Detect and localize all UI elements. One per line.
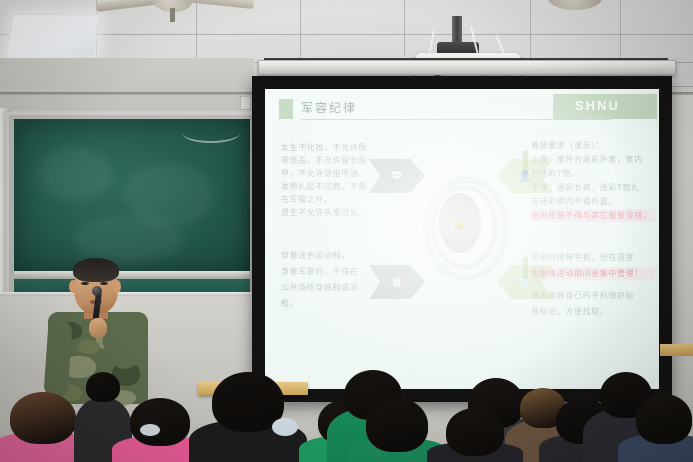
- slide-title-underline: [301, 119, 611, 120]
- wall-sensor: [240, 96, 251, 110]
- shirt-glyph: 👕: [518, 276, 532, 289]
- slide-brand-text: SHNU: [575, 98, 620, 113]
- slide-text-left2-2: 身着军装时，不得在: [281, 265, 377, 278]
- student-right-3-head: [446, 408, 504, 456]
- ceiling-tile-seam: [404, 0, 405, 56]
- ceiling-fan-rod: [170, 8, 175, 22]
- ceiling-tile-seam: [620, 0, 621, 66]
- slide-text-right-5: 在迷彩裤内不得外露。: [531, 195, 653, 208]
- student-far-right-2-head: [636, 394, 692, 444]
- ceiling-tile-seam: [300, 0, 301, 62]
- slide-text-left-5: 在军帽之外。: [281, 193, 377, 206]
- ceiling-tile-seam: [0, 34, 693, 35]
- student-ponytail-head: [130, 398, 190, 446]
- person-glyph: 👤: [518, 170, 532, 183]
- student-pink-shirt-head: [10, 392, 76, 444]
- classroom-photo: 军容纪律 SHNU 女生不化妆，不允许佩 带饰品，不允许留长指 甲，不允许涂指甲…: [0, 0, 693, 462]
- screen-roller-housing: [258, 60, 676, 75]
- slide-text-left2-1: 穿着浅色运动鞋。: [281, 249, 377, 262]
- chalk-tray: [14, 271, 250, 279]
- wall-above-chalkboard: [0, 58, 254, 110]
- slide-text-left-3: 甲，不允许涂指甲油。: [281, 167, 377, 180]
- slide-text-left-1: 女生不化妆，不允许佩: [281, 141, 377, 154]
- wooden-ledge-right: [660, 344, 693, 356]
- presenter-ear: [69, 280, 77, 293]
- hair-tie: [140, 424, 160, 436]
- projected-slide: 军容纪律 SHNU 女生不化妆，不允许佩 带饰品，不允许留长指 甲，不允许涂指甲…: [265, 89, 659, 389]
- camo-patch: [78, 340, 100, 354]
- presenter-hand: [89, 318, 107, 338]
- microphone-head: [92, 286, 102, 296]
- presenter-ear: [113, 280, 121, 293]
- slide-title: 军容纪律: [301, 99, 357, 116]
- slide-text-right-3: 为迷彩T恤。: [531, 167, 653, 180]
- presenter-eye: [81, 282, 89, 285]
- projection-screen: 军容纪律 SHNU 女生不化妆，不允许佩 带饰品，不允许留长指 甲，不允许涂指甲…: [252, 76, 672, 402]
- chat-bubble-glyph: 💬: [390, 170, 404, 183]
- green-chalkboard: [6, 112, 260, 300]
- presenter-hair: [73, 258, 119, 282]
- slide-text-left-6: 男生不允许头发过长。: [281, 206, 377, 219]
- chalkboard-surface: [14, 119, 250, 271]
- slide-text-right2-1: 军训时须带手机，但在寝室: [531, 251, 653, 264]
- presenter-eye: [100, 282, 108, 285]
- student-back-row-1-head: [86, 372, 120, 402]
- chalk-string: [182, 123, 240, 143]
- lock-icon: 🔒: [439, 193, 481, 253]
- clipboard-icon: 📋: [369, 265, 425, 299]
- slide-text-left-4: 发辫扎起不过肩，不露: [281, 180, 377, 193]
- slide-text-right2-4: 目标记，方便找取。: [531, 305, 653, 318]
- chalk-smudge: [38, 147, 112, 201]
- student-right-2-head: [366, 398, 428, 452]
- slide-text-left2-4: 鞋。: [281, 297, 377, 310]
- hair-scrunchie: [272, 418, 298, 436]
- clipboard-glyph: 📋: [390, 276, 404, 289]
- slide-title-accent: [279, 99, 293, 119]
- slide-text-right-1: 着装要求（演示）：: [531, 139, 653, 152]
- shirt-icon: 👕: [497, 265, 553, 299]
- slide-text-left-2: 带饰品，不允许留长指: [281, 154, 377, 167]
- lock-glyph: 🔒: [452, 215, 468, 231]
- slide-text-left2-3: 公共场所穿拖鞋或凉: [281, 281, 377, 294]
- chat-bubble-icon: 💬: [369, 159, 425, 193]
- ceiling-tile-seam: [530, 0, 531, 60]
- chalk-smudge: [74, 215, 184, 263]
- slide-text-right-highlight: 迷彩服装不得与其它服装混搭。: [531, 209, 655, 222]
